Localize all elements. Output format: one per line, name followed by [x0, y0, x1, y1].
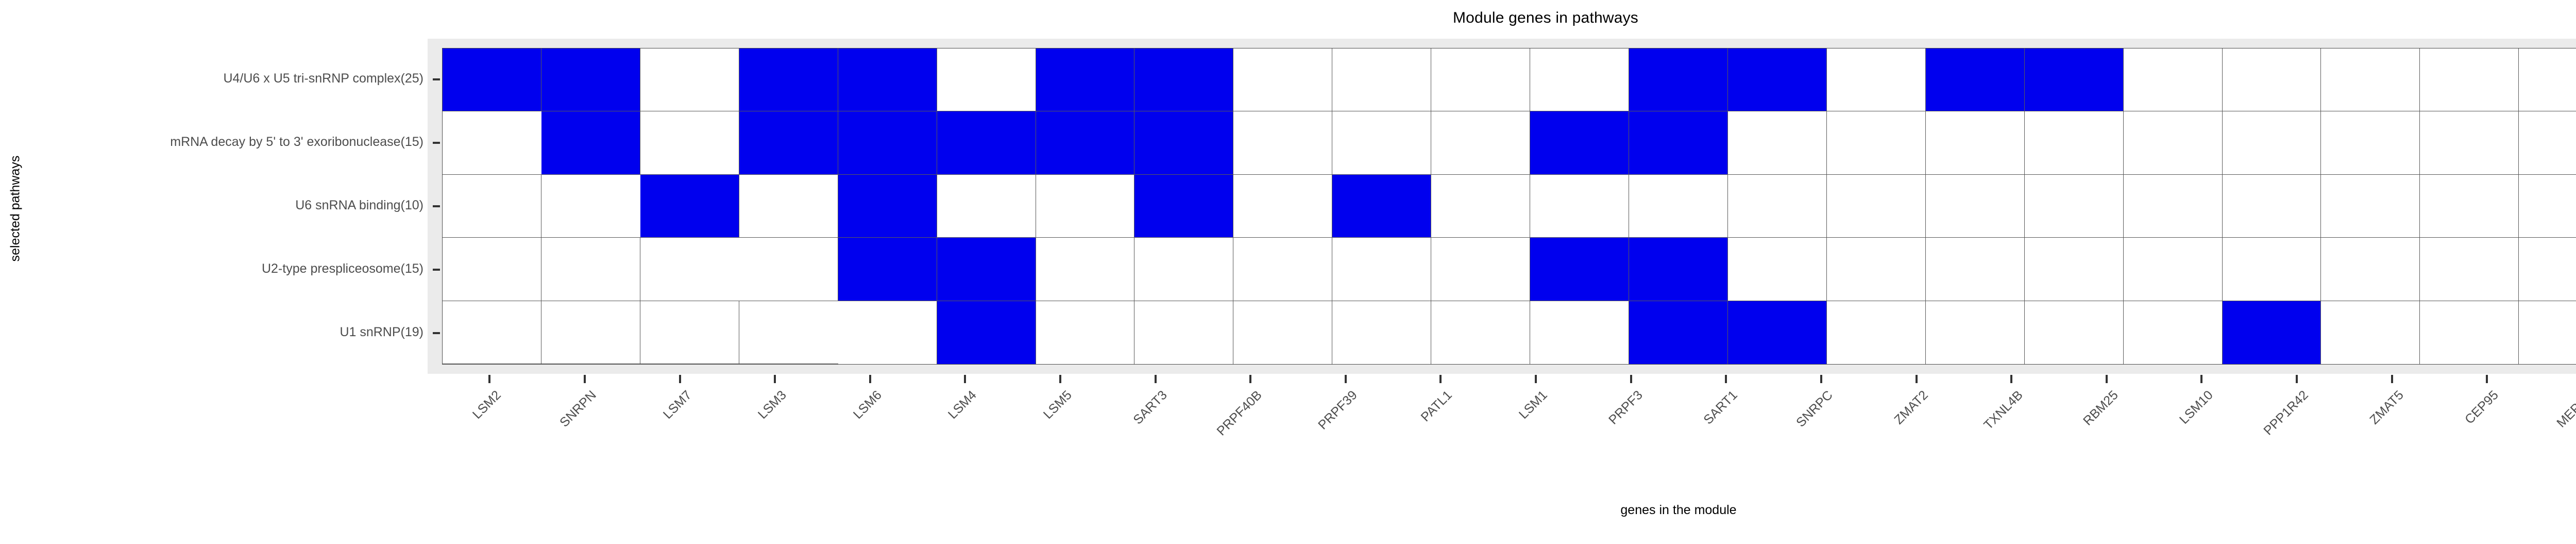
x-axis-tick — [2106, 375, 2108, 383]
heatmap-cell — [2025, 238, 2124, 301]
x-axis-label: PRPF39 — [1204, 388, 1360, 544]
heatmap-cell — [2321, 48, 2420, 111]
x-axis-tick — [488, 375, 490, 383]
x-axis-label: CEP95 — [2345, 388, 2501, 544]
heatmap-cell — [443, 238, 541, 301]
heatmap-cell — [1629, 48, 1728, 111]
heatmap-cell — [541, 48, 640, 111]
x-axis-tick — [584, 375, 586, 383]
heatmap-cell — [2420, 175, 2519, 238]
heatmap-cell — [2321, 238, 2420, 301]
heatmap-cell — [1629, 175, 1728, 238]
heatmap-cell — [1530, 301, 1629, 364]
heatmap-cell — [541, 301, 640, 364]
heatmap-cell — [2420, 238, 2519, 301]
x-axis-tick — [1345, 375, 1347, 383]
heatmap-cell — [1233, 301, 1332, 364]
x-axis-label: SART1 — [1584, 388, 1740, 544]
heatmap-cell — [443, 111, 541, 174]
heatmap-cell — [541, 111, 640, 174]
x-axis-label: SNRPN — [443, 388, 599, 544]
heatmap-panel — [442, 48, 2576, 365]
x-axis-tick — [679, 375, 681, 383]
heatmap-cell — [541, 238, 640, 301]
heatmap-cell — [640, 48, 739, 111]
heatmap-cell — [1134, 301, 1233, 364]
heatmap-cell — [1530, 111, 1629, 174]
heatmap-cell — [2519, 175, 2576, 238]
heatmap-cell — [640, 175, 739, 238]
heatmap-cell — [1629, 238, 1728, 301]
heatmap-cell — [2025, 301, 2124, 364]
heatmap-cell — [1431, 301, 1530, 364]
heatmap-cell — [739, 175, 838, 238]
y-axis-tick — [433, 269, 440, 271]
heatmap-cell — [1233, 111, 1332, 174]
heatmap-cell — [1233, 175, 1332, 238]
heatmap-cell — [1728, 238, 1827, 301]
x-axis-label: TXNL4B — [1870, 388, 2026, 544]
heatmap-cell — [1431, 238, 1530, 301]
y-axis-label: U6 snRNA binding(10) — [295, 198, 423, 213]
heatmap-cell — [2321, 175, 2420, 238]
heatmap-cell — [1629, 301, 1728, 364]
heatmap-cell — [1530, 238, 1629, 301]
x-axis-label: ZMAT2 — [1775, 388, 1931, 544]
heatmap-cell — [1134, 175, 1233, 238]
heatmap-cell — [2223, 48, 2321, 111]
heatmap-cell — [640, 238, 739, 301]
x-axis-tick — [1820, 375, 1822, 383]
x-axis-tick — [1630, 375, 1632, 383]
heatmap-cell — [2124, 238, 2223, 301]
x-axis-label: SNRPC — [1680, 388, 1836, 544]
x-axis-label: LSM7 — [538, 388, 694, 544]
heatmap-cell — [1036, 111, 1135, 174]
y-axis-label: U1 snRNP(19) — [340, 325, 423, 340]
x-axis-tick — [2200, 375, 2202, 383]
x-axis-tick — [2010, 375, 2012, 383]
heatmap-cell — [937, 238, 1036, 301]
heatmap-cell — [1332, 238, 1431, 301]
heatmap-cell — [2025, 175, 2124, 238]
heatmap-cell — [1332, 111, 1431, 174]
heatmap-cell — [2519, 238, 2576, 301]
heatmap-cell — [2321, 301, 2420, 364]
heatmap-cell — [1134, 48, 1233, 111]
x-axis-tick — [2296, 375, 2298, 383]
x-axis-tick — [1439, 375, 1442, 383]
heatmap-cell — [1827, 48, 1926, 111]
heatmap-cell — [937, 111, 1036, 174]
heatmap-cell — [1728, 48, 1827, 111]
heatmap-cell — [541, 175, 640, 238]
heatmap-cell — [2223, 111, 2321, 174]
heatmap-cell — [1431, 111, 1530, 174]
heatmap-cell — [1728, 301, 1827, 364]
heatmap-cell — [1926, 238, 2025, 301]
heatmap-cell — [640, 301, 739, 364]
x-axis-tick — [774, 375, 776, 383]
heatmap-cell — [937, 175, 1036, 238]
x-axis-label: RBM25 — [1965, 388, 2121, 544]
heatmap-cell — [443, 48, 541, 111]
y-axis-label: U2-type prespliceosome(15) — [262, 261, 423, 276]
heatmap-cell — [443, 301, 541, 364]
heatmap-cell — [2223, 175, 2321, 238]
heatmap-cell — [739, 48, 838, 111]
x-axis-label: PRPF40B — [1109, 388, 1265, 544]
heatmap-cell — [838, 111, 937, 174]
page-title: Module genes in pathways — [0, 9, 2576, 27]
heatmap-cell — [2223, 238, 2321, 301]
x-axis-label: LSM2 — [348, 388, 504, 544]
heatmap-cell — [1530, 48, 1629, 111]
y-axis-tick — [433, 332, 440, 334]
heatmap-cell — [2025, 111, 2124, 174]
heatmap-cell — [2124, 301, 2223, 364]
heatmap-cell — [1926, 301, 2025, 364]
heatmap-cell — [1233, 238, 1332, 301]
y-axis-tick — [433, 78, 440, 80]
x-axis-tick — [1725, 375, 1727, 383]
heatmap-cell — [1036, 301, 1135, 364]
x-axis-tick — [869, 375, 871, 383]
x-axis-tick — [2391, 375, 2393, 383]
heatmap-cell — [1728, 111, 1827, 174]
heatmap-cell — [1926, 111, 2025, 174]
x-axis-label: LSM3 — [633, 388, 789, 544]
heatmap-cell — [1036, 48, 1135, 111]
heatmap-cell — [2420, 301, 2519, 364]
heatmap-cell — [1332, 175, 1431, 238]
x-axis-label: LSM6 — [728, 388, 885, 544]
y-axis-label: U4/U6 x U5 tri-snRNP complex(25) — [223, 71, 423, 86]
heatmap-cell — [443, 175, 541, 238]
x-axis-label: PATL1 — [1299, 388, 1455, 544]
heatmap-cell — [1530, 175, 1629, 238]
heatmap-cell — [2223, 301, 2321, 364]
heatmap-cell — [838, 48, 937, 111]
y-axis-title: selected pathways — [8, 121, 23, 296]
x-axis-label: SART3 — [1014, 388, 1170, 544]
x-axis-tick — [1535, 375, 1537, 383]
heatmap-cell — [1332, 301, 1431, 364]
heatmap-cell — [1926, 175, 2025, 238]
x-axis-label: LSM5 — [919, 388, 1075, 544]
x-axis-tick — [1059, 375, 1061, 383]
heatmap-cell — [1134, 238, 1233, 301]
heatmap-cell — [838, 301, 937, 364]
heatmap-cell — [739, 238, 838, 301]
heatmap-cell — [1431, 175, 1530, 238]
heatmap-cell — [937, 301, 1036, 364]
heatmap-cell — [2420, 111, 2519, 174]
heatmap-cell — [2124, 175, 2223, 238]
y-axis-tick — [433, 142, 440, 144]
heatmap-cell — [1233, 48, 1332, 111]
heatmap-cell — [1728, 175, 1827, 238]
heatmap-cell — [739, 301, 838, 364]
heatmap-cell — [1036, 175, 1135, 238]
x-axis-label: PRPF3 — [1489, 388, 1646, 544]
heatmap-cell — [2519, 48, 2576, 111]
x-axis-label: LSM4 — [824, 388, 980, 544]
x-axis-label: LSM10 — [2060, 388, 2216, 544]
heatmap-cell — [2321, 111, 2420, 174]
heatmap-cell — [2420, 48, 2519, 111]
heatmap-cell — [1431, 48, 1530, 111]
heatmap-cell — [2124, 111, 2223, 174]
x-axis-label: ZMAT5 — [2250, 388, 2406, 544]
heatmap-cell — [1827, 175, 1926, 238]
heatmap-cell — [1629, 111, 1728, 174]
heatmap-cell — [2124, 48, 2223, 111]
heatmap-cell — [1332, 48, 1431, 111]
x-axis-tick — [2486, 375, 2488, 383]
heatmap-cell — [838, 175, 937, 238]
heatmap-cell — [2519, 111, 2576, 174]
x-axis-tick — [1249, 375, 1251, 383]
heatmap-cell — [1827, 301, 1926, 364]
heatmap-cell — [838, 238, 937, 301]
x-axis-tick — [1155, 375, 1157, 383]
heatmap-cell — [1036, 238, 1135, 301]
x-axis-label: LSM1 — [1394, 388, 1550, 544]
heatmap-grid — [443, 48, 2576, 364]
heatmap-cell — [1827, 238, 1926, 301]
heatmap-cell — [739, 111, 838, 174]
heatmap-figure: Module genes in pathways selected pathwa… — [0, 0, 2576, 541]
heatmap-cell — [640, 111, 739, 174]
heatmap-cell — [937, 48, 1036, 111]
heatmap-cell — [1926, 48, 2025, 111]
heatmap-cell — [2519, 301, 2576, 364]
y-axis-label: mRNA decay by 5' to 3' exoribonuclease(1… — [170, 135, 423, 150]
heatmap-cell — [1827, 111, 1926, 174]
y-axis-tick — [433, 205, 440, 207]
x-axis-label: PPP1R42 — [2155, 388, 2311, 544]
x-axis-tick — [1916, 375, 1918, 383]
x-axis-tick — [964, 375, 966, 383]
heatmap-cell — [2025, 48, 2124, 111]
heatmap-cell — [1134, 111, 1233, 174]
